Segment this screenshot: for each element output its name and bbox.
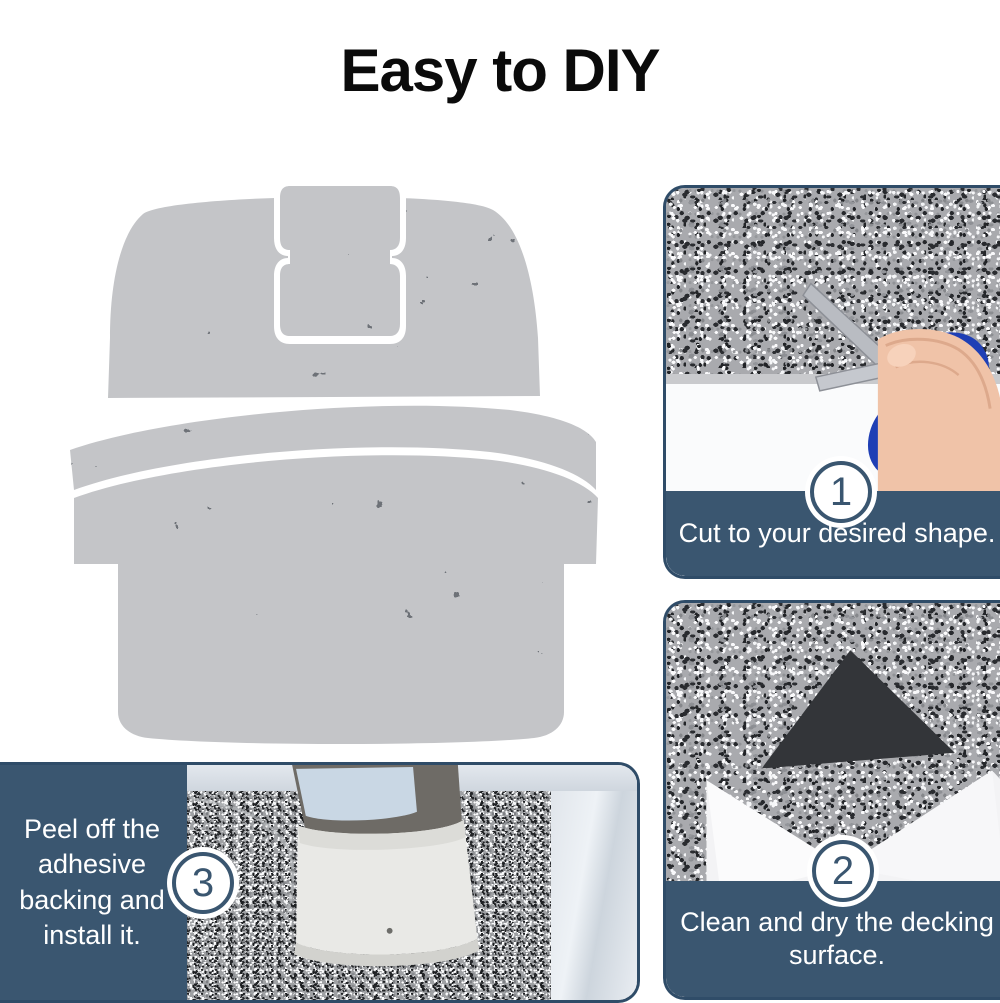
- step-1-badge: 1: [810, 461, 872, 523]
- step-3-caption: Peel off the adhesive backing and instal…: [0, 765, 187, 1000]
- page-title: Easy to DIY: [0, 36, 1000, 105]
- step-2-panel[interactable]: Clean and dry the decking surface.: [663, 600, 1000, 1000]
- infographic-canvas: Easy to DIY: [0, 0, 1000, 1000]
- step-3-badge: 3: [172, 852, 234, 914]
- product-hero-image: [40, 160, 640, 760]
- product-shape-group: [40, 160, 640, 760]
- step-3-panel[interactable]: Peel off the adhesive backing and instal…: [0, 762, 640, 1003]
- step-2-badge: 2: [812, 840, 874, 902]
